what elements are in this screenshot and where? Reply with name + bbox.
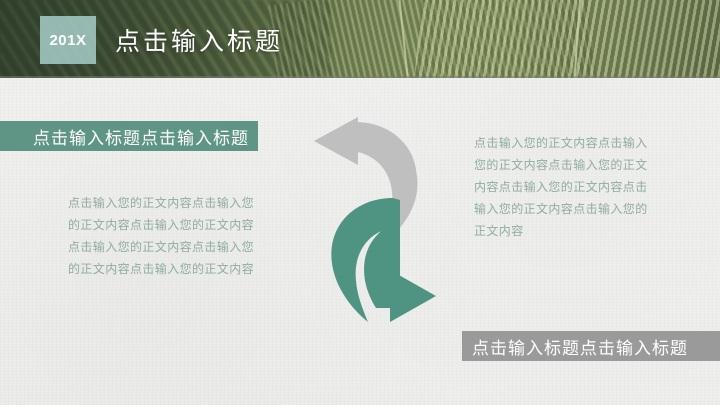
right-body-text: 点击输入您的正文内容点击输入您的正文内容点击输入您的正文内容点击输入您的正文内容… [474,132,656,242]
right-section-banner: 点击输入标题点击输入标题 [462,331,720,361]
header-overlay [0,0,720,78]
left-section-banner: 点击输入标题点击输入标题 [0,121,258,151]
header-divider [0,76,720,78]
curved-double-arrow-svg [308,112,440,332]
center-arrow-graphic [308,112,440,332]
header-background-image [0,0,720,78]
left-body-text: 点击输入您的正文内容点击输入您的正文内容点击输入您的正文内容点击输入您的正文内容… [68,192,258,280]
year-badge: 201X [40,16,96,64]
slide-canvas: 201X 点击输入标题 点击输入标题点击输入标题 点击输入您的正文内容点击输入您… [0,0,720,405]
header-banner: 201X 点击输入标题 [0,0,720,78]
right-section-banner-label: 点击输入标题点击输入标题 [472,334,688,359]
page-title: 点击输入标题 [115,22,283,58]
year-badge-label: 201X [49,32,86,49]
left-section-banner-label: 点击输入标题点击输入标题 [33,124,249,149]
